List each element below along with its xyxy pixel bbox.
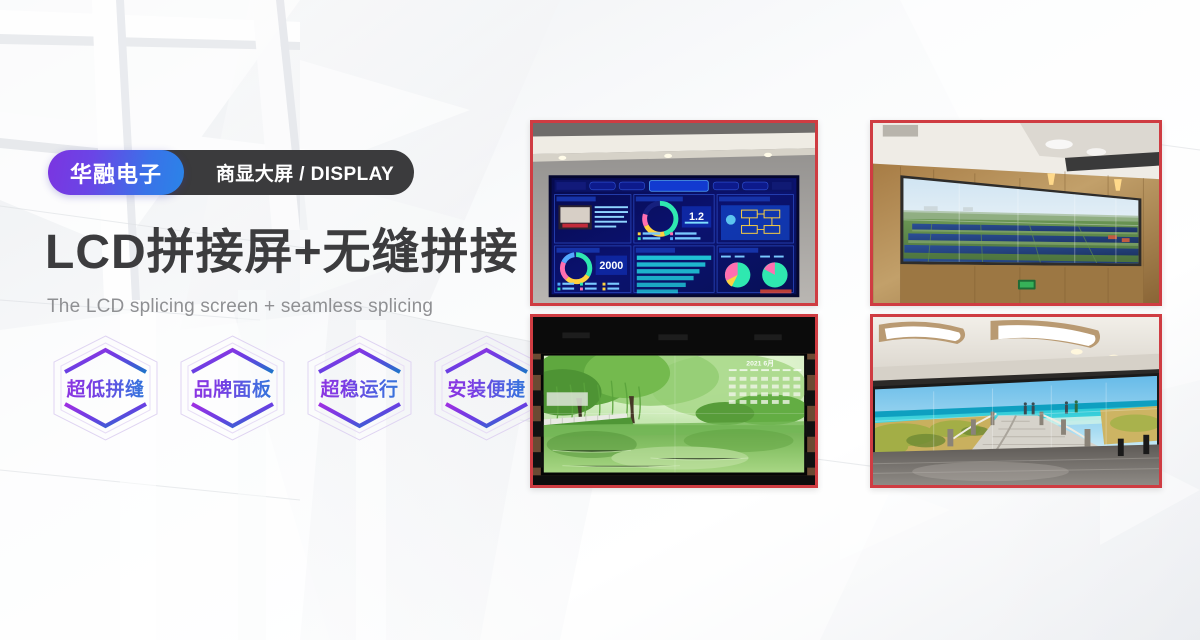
feature-label: 品牌面板 — [174, 375, 291, 402]
photo-solar-farm-video-wall[interactable] — [870, 120, 1162, 306]
svg-text:2021 6月: 2021 6月 — [746, 359, 774, 367]
feature-label: 超低拼缝 — [47, 375, 164, 402]
feature-list: 超低拼缝 品牌面板 — [47, 332, 545, 444]
brand-badge: 商显大屏 / DISPLAY 华融电子 — [48, 150, 184, 195]
hero-text-column: 商显大屏 / DISPLAY 华融电子 LCD拼接屏+无缝拼接 The LCD … — [0, 0, 525, 640]
feature-hex-2: 品牌面板 — [174, 332, 291, 444]
feature-label: 超稳运行 — [301, 375, 418, 402]
feature-label: 安装便捷 — [428, 375, 545, 402]
svg-text:1.2: 1.2 — [689, 211, 704, 223]
photo-beach-boardwalk-video-wall[interactable] — [870, 314, 1162, 488]
photo-willow-lake-video-wall[interactable]: 2021 6月 — [530, 314, 818, 488]
page-subtitle: The LCD splicing screen + seamless splic… — [47, 296, 433, 318]
brand-badge-name: 华融电子 — [48, 150, 184, 195]
feature-hex-3: 超稳运行 — [301, 332, 418, 444]
feature-hex-1: 超低拼缝 — [47, 332, 164, 444]
page-title: LCD拼接屏+无缝拼接 — [45, 228, 519, 278]
svg-text:2000: 2000 — [599, 260, 623, 272]
feature-hex-4: 安装便捷 — [428, 332, 545, 444]
photo-dashboard-video-wall[interactable]: 1.2 2000 — [530, 120, 818, 306]
